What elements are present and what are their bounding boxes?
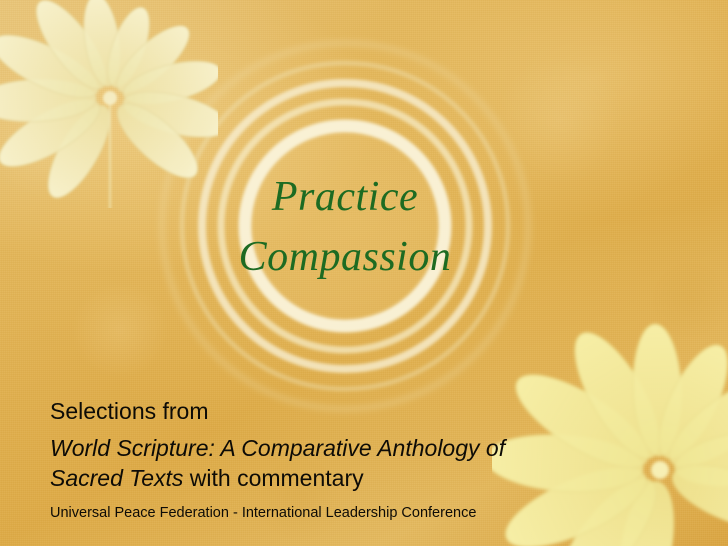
slide-subtitle-block: Selections from World Scripture: A Compa…	[50, 398, 590, 522]
title-slide: Practice Compassion Selections from Worl…	[0, 0, 728, 546]
source-work-line: World Scripture: A Comparative Anthology…	[50, 434, 520, 494]
title-line-2: Compassion	[180, 228, 510, 288]
source-work-suffix: with commentary	[183, 465, 363, 491]
slide-title: Practice Compassion	[180, 168, 510, 287]
title-line-1: Practice	[180, 168, 510, 228]
organization-line: Universal Peace Federation - Internation…	[50, 505, 590, 522]
selections-label: Selections from	[50, 398, 590, 425]
